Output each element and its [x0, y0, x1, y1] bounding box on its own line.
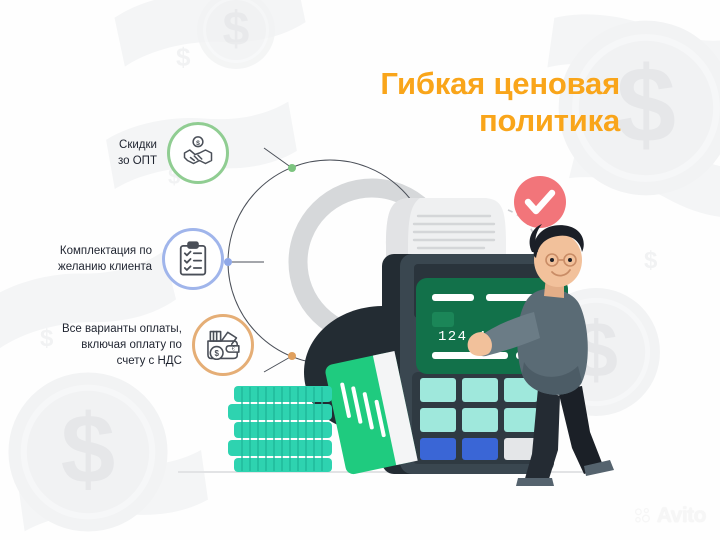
handshake-dollar-icon: $	[167, 122, 229, 184]
clipboard-checklist-icon	[162, 228, 224, 290]
feature-item-configuration[interactable]: Комплектация по желанию клиента	[58, 228, 224, 290]
feature-label: Комплектация по желанию клиента	[58, 243, 152, 276]
feature-label: Скидки зо ОПТ	[118, 137, 157, 170]
svg-text:$: $	[176, 42, 191, 72]
coin-stack	[228, 386, 332, 472]
svg-text:$: $	[196, 140, 200, 147]
terminal-keypad	[412, 372, 544, 464]
feature-item-payment-options[interactable]: Все варианты оплаты, включая оплату по с…	[62, 314, 254, 376]
svg-text:$: $	[638, 46, 653, 76]
svg-text:$: $	[214, 349, 219, 358]
check-circle-icon	[514, 176, 566, 228]
avito-label: Avito	[657, 504, 706, 528]
svg-text:€: €	[232, 347, 235, 353]
avito-logo-icon	[633, 506, 653, 526]
payment-illustration: BANSYS	[186, 160, 666, 490]
page-title: Гибкая ценовая политика	[300, 66, 620, 139]
poster-canvas: $ $ $ $ $ $	[0, 0, 720, 540]
wallet-money-icon: € $	[192, 314, 254, 376]
feature-item-discounts[interactable]: Скидки зо ОПТ $	[118, 122, 229, 184]
svg-text:$: $	[40, 325, 54, 352]
avito-watermark: Avito	[633, 504, 706, 528]
feature-label: Все варианты оплаты, включая оплату по с…	[62, 321, 182, 370]
